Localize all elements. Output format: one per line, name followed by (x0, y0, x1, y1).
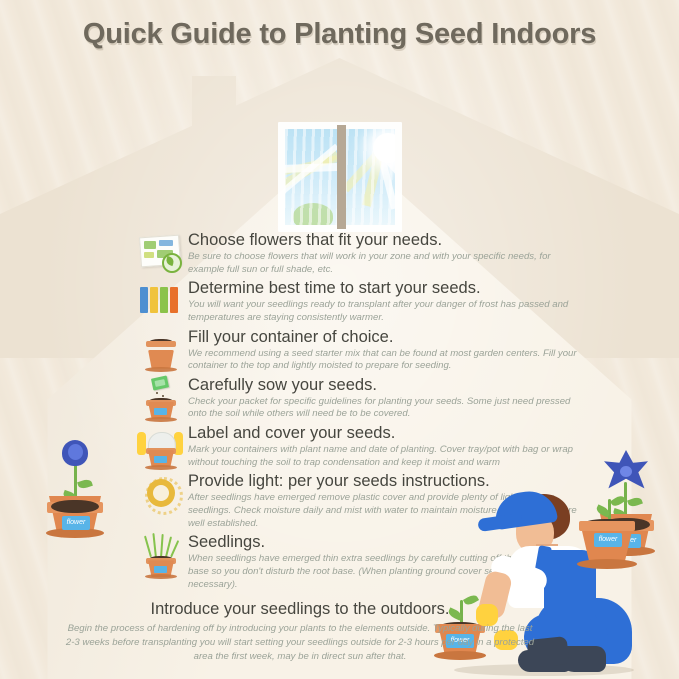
step-body: Be sure to choose flowers that will work… (188, 251, 588, 276)
step-body: We recommend using a seed starter mix th… (188, 348, 588, 373)
decorative-pot-left: flower (46, 418, 106, 538)
step-heading: Choose flowers that fit your needs. (188, 231, 588, 250)
flower-center (620, 466, 632, 477)
window-pane-right (346, 129, 395, 225)
step-item: Determine best time to start your seeds.… (136, 279, 588, 324)
catalog-swatch (144, 252, 154, 258)
pot-label: flower (62, 516, 90, 530)
gloves-cover-icon (136, 424, 184, 470)
flower-highlight (68, 444, 83, 460)
window-illustration (278, 122, 402, 232)
pot-saucer (145, 417, 177, 422)
empty-pot-icon (136, 328, 184, 374)
sun-glyph (147, 479, 175, 507)
window-blinds (346, 129, 395, 225)
pot-label: flower (594, 533, 622, 547)
conclusion-body: Begin the process of hardening off by in… (62, 622, 538, 664)
catalog-swatch (144, 241, 156, 249)
pot-saucer (577, 559, 637, 569)
packet (170, 287, 178, 313)
window-pane-left (285, 129, 337, 225)
seed-packets-icon (136, 279, 184, 325)
pot-label (154, 456, 167, 463)
step-item: Carefully sow your seeds. Check your pac… (136, 376, 588, 421)
conclusion-block: Introduce your seedlings to the outdoors… (62, 600, 538, 664)
pot-rim (579, 521, 635, 531)
leaf (610, 494, 626, 508)
packet (140, 287, 148, 313)
seed-packet (151, 375, 169, 390)
pot-saucer (145, 465, 177, 470)
step-heading: Label and cover your seeds. (188, 424, 588, 443)
pot-saucer (145, 574, 177, 579)
leaf (77, 478, 93, 490)
seed-catalog-icon (136, 231, 184, 277)
step-heading: Determine best time to start your seeds. (188, 279, 588, 298)
sowing-seeds-icon (136, 376, 184, 422)
step-heading: Carefully sow your seeds. (188, 376, 588, 395)
infographic-canvas: Quick Guide to Planting Seed Indoors flo… (0, 0, 679, 679)
pot-saucer (145, 367, 177, 372)
soil (51, 500, 99, 513)
pot-rim (146, 341, 176, 347)
catalog-swatch (159, 240, 173, 246)
sun-light-icon (136, 472, 184, 518)
conclusion-heading: Introduce your seedlings to the outdoors… (62, 600, 538, 619)
seedling-blade (170, 540, 179, 557)
packet (160, 287, 168, 313)
step-heading: Fill your container of choice. (188, 328, 588, 347)
falling-seed (162, 395, 164, 397)
seedling-blade (144, 536, 152, 558)
window-mullion (337, 125, 346, 229)
pot-body (148, 350, 174, 369)
window-blinds (285, 129, 337, 225)
seedling-blade (160, 534, 164, 558)
step-body: You will want your seedlings ready to tr… (188, 299, 588, 324)
step-body: Mark your containers with plant name and… (188, 444, 588, 469)
seedlings-pot-icon (136, 533, 184, 579)
seedling-blade (152, 533, 157, 558)
pot-label (154, 408, 167, 415)
step-item: Choose flowers that fit your needs. Be s… (136, 231, 588, 276)
glove-left (137, 436, 146, 455)
packet (150, 287, 158, 313)
step-body: Check your packet for specific guideline… (188, 396, 588, 421)
pot-label (154, 566, 167, 573)
step-item: Label and cover your seeds. Mark your co… (136, 424, 588, 469)
shelf-pot: flower (576, 495, 646, 573)
falling-seed (156, 392, 158, 394)
page-title: Quick Guide to Planting Seed Indoors (0, 18, 679, 51)
step-item: Fill your container of choice. We recomm… (136, 328, 588, 373)
